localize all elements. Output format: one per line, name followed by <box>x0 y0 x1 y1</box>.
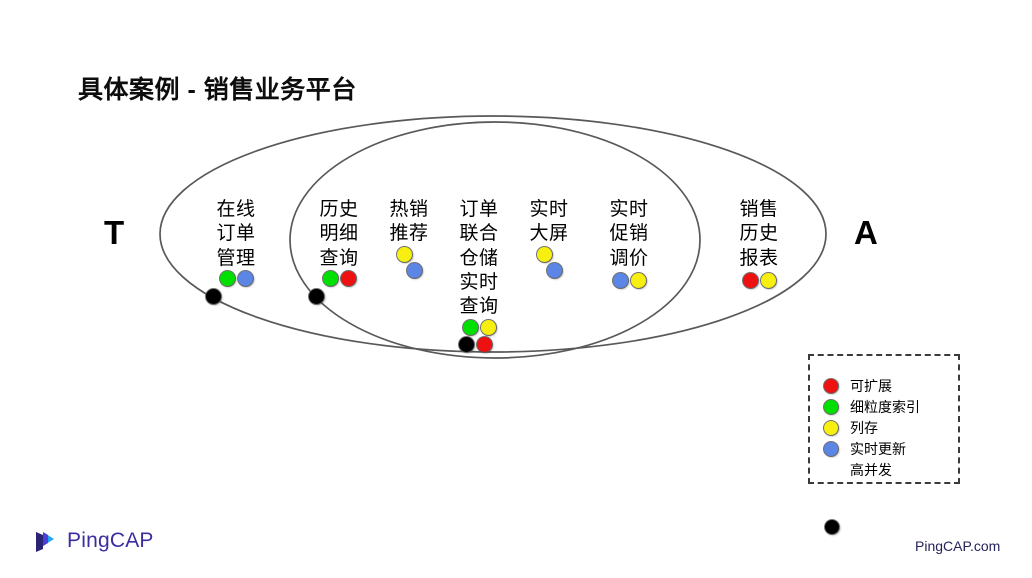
item-online-order-management[interactable]: 在线 订单 管理 <box>193 198 279 304</box>
legend-swatch-yellow <box>824 421 838 435</box>
dot-green <box>220 271 235 286</box>
item-dots <box>193 271 279 304</box>
item-dots <box>716 273 802 288</box>
dot-blue <box>407 263 422 278</box>
legend-row-realtime-update: 实时更新 <box>824 439 920 459</box>
dot-red <box>341 271 356 286</box>
item-realtime-promotion-pricing[interactable]: 实时 促销 调价 <box>586 198 672 288</box>
item-realtime-dashboard[interactable]: 实时 大屏 <box>506 198 592 278</box>
item-dots <box>506 247 592 278</box>
legend-swatch-red <box>824 379 838 393</box>
dot-black <box>206 289 221 304</box>
pingcap-logo-icon <box>34 528 60 554</box>
dot-green <box>463 320 478 335</box>
dot-yellow <box>631 273 646 288</box>
dot-green <box>323 271 338 286</box>
item-label: 在线 订单 管理 <box>193 198 279 271</box>
dot-black <box>459 337 474 352</box>
brand-name: PingCAP <box>67 529 154 553</box>
legend-sub-label: 高并发 <box>850 460 920 480</box>
dot-yellow <box>481 320 496 335</box>
legend-box: 可扩展 细粒度索引 列存 实时更新 高并发 <box>808 354 960 484</box>
stray-black-dot <box>825 520 839 534</box>
dot-red <box>477 337 492 352</box>
dot-blue <box>238 271 253 286</box>
dot-black <box>309 289 324 304</box>
item-label: 实时 促销 调价 <box>586 198 672 271</box>
dot-yellow <box>761 273 776 288</box>
legend-label: 细粒度索引 <box>850 397 920 417</box>
dot-yellow <box>537 247 552 262</box>
item-label: 实时 大屏 <box>506 198 592 247</box>
legend-swatch-green <box>824 400 838 414</box>
legend-row-scalable: 可扩展 <box>824 376 920 396</box>
brand-logo: PingCAP <box>34 528 154 554</box>
item-sales-history-report[interactable]: 销售 历史 报表 <box>716 198 802 288</box>
legend-label: 列存 <box>850 418 878 438</box>
legend-swatch-blue <box>824 442 838 456</box>
legend-label: 实时更新 <box>850 439 906 459</box>
dot-blue <box>613 273 628 288</box>
legend-list: 可扩展 细粒度索引 列存 实时更新 高并发 <box>824 376 920 480</box>
dot-yellow <box>397 247 412 262</box>
legend-row-fine-grained-index: 细粒度索引 <box>824 397 920 417</box>
page-title: 具体案例 - 销售业务平台 <box>78 70 357 106</box>
dot-blue <box>547 263 562 278</box>
item-dots <box>436 320 522 352</box>
slide-canvas: 具体案例 - 销售业务平台 T A 在线 订单 管理 历史 明细 查询 热销 推… <box>0 0 1032 578</box>
item-label: 销售 历史 报表 <box>716 198 802 271</box>
item-dots <box>586 273 672 288</box>
set-label-t: T <box>104 216 124 249</box>
site-url: PingCAP.com <box>915 538 1000 554</box>
legend-row-columnar-storage: 列存 <box>824 418 920 438</box>
set-label-a: A <box>854 216 878 249</box>
legend-label: 可扩展 <box>850 376 892 396</box>
dot-red <box>743 273 758 288</box>
